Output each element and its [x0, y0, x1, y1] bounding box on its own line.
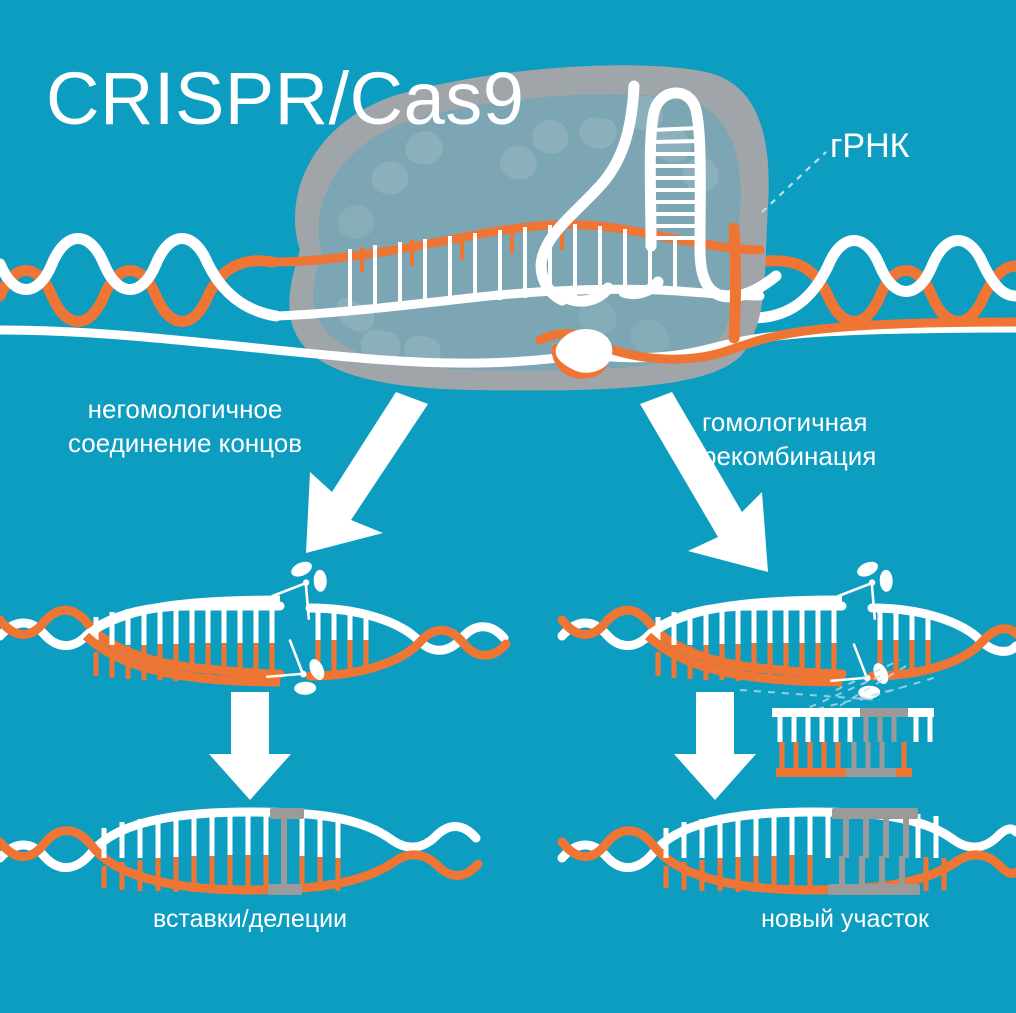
donor-template	[772, 708, 934, 777]
dna-helix-left	[0, 239, 276, 322]
dna-orange-vertical	[734, 228, 736, 338]
indels-caption: вставки/делеции	[70, 905, 430, 934]
indel-dna	[0, 808, 478, 895]
cut-dna-hdr	[562, 552, 1016, 709]
nhej-pathway-label: негомологичное соединение концов	[30, 392, 340, 461]
new-segment-caption: новый участок	[680, 905, 1010, 934]
cut-dna-nhej	[0, 552, 506, 705]
page-title: CRISPR/Cas9	[46, 56, 524, 141]
homologous-recombination-label: гомологичная рекомбинация	[702, 405, 1002, 474]
arrow-down-icon	[674, 692, 756, 800]
arrow-down-icon	[209, 692, 291, 800]
indel-insert-gray	[268, 808, 304, 895]
new-segment-dna	[562, 808, 1016, 895]
crispr-infographic: CRISPR/Cas9 гРНК негомологичное соединен…	[0, 0, 1016, 1013]
grna-label: гРНК	[830, 127, 909, 166]
dashed-leader-line	[762, 152, 826, 212]
dna-helix-right	[752, 241, 1016, 322]
indel-rungs-white	[104, 812, 338, 858]
